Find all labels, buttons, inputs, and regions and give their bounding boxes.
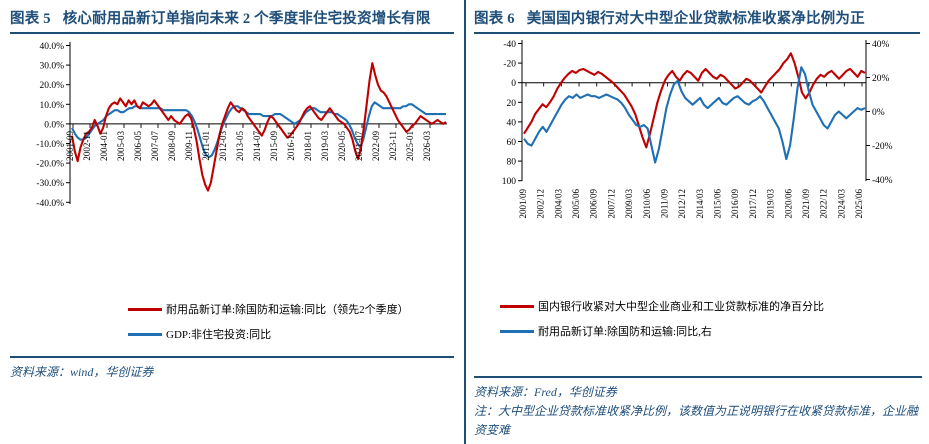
x-tick-label: 2016/09 (730, 189, 740, 219)
figure-5-footer: 资料来源：wind，华创证券 (10, 356, 454, 382)
x-tick-label: 2021-07 (354, 131, 364, 161)
legend-label-gdp-nonresidential: GDP:非住宅投资:同比 (166, 326, 271, 342)
report-figures-page: 图表 5核心耐用品新订单指向未来 2 个季度非住宅投资增长有限 40.0% 30… (0, 0, 929, 444)
legend-item-durable-goods: 耐用品新订单:除国防和运输:同比（领先2个季度） (10, 301, 454, 317)
x-tick-label: 2015/06 (713, 189, 723, 219)
figure-5-title-text: 核心耐用品新订单指向未来 2 个季度非住宅投资增长有限 (63, 11, 431, 27)
svg-text:40%: 40% (872, 40, 890, 50)
svg-text:-20: -20 (503, 60, 516, 70)
svg-text:-30.0%: -30.0% (36, 179, 64, 189)
x-tick-label: 2007-07 (150, 131, 160, 161)
figure-5-number: 图表 5 (10, 11, 51, 27)
x-tick-label: 2019-03 (320, 131, 330, 161)
x-tick-label: 2001/09 (518, 189, 528, 219)
figure-5-legend: 耐用品新订单:除国防和运输:同比（领先2个季度） GDP:非住宅投资:同比 (10, 301, 454, 342)
x-tick-label: 2022-09 (371, 131, 381, 161)
svg-text:0: 0 (511, 79, 516, 89)
svg-text:-40.0%: -40.0% (36, 199, 64, 209)
figure-6-source: 资料来源：Fred，华创证券 (474, 383, 922, 402)
x-tick-label: 2017/12 (748, 189, 758, 219)
x-tick-label: 2001-09 (65, 131, 75, 161)
x-tick-label: 2010/06 (642, 189, 652, 219)
figure-6-title-text: 美国国内银行对大中型企业贷款标准收紧净比例为正 (527, 11, 865, 27)
legend-swatch-blue (500, 330, 534, 333)
figure-5-panel: 图表 5核心耐用品新订单指向未来 2 个季度非住宅投资增长有限 40.0% 30… (0, 0, 464, 444)
x-tick-label: 2016-11 (286, 131, 296, 161)
x-tick-label: 2019/03 (766, 189, 776, 219)
x-tick-label: 2020-05 (337, 131, 347, 161)
svg-text:100: 100 (502, 177, 517, 187)
svg-text:40: 40 (507, 118, 517, 128)
figure-6-panel: 图表 6美国国内银行对大中型企业贷款标准收紧净比例为正 -40 -20 0 20… (466, 0, 929, 444)
legend-swatch-blue (128, 333, 162, 336)
x-tick-label: 2014-07 (252, 131, 262, 161)
x-tick-label: 2011/09 (659, 189, 669, 219)
x-tick-label: 2015-09 (269, 131, 279, 161)
x-tick-label: 2022/12 (819, 189, 829, 219)
x-tick-label: 2004-01 (99, 131, 109, 161)
svg-text:20.0%: 20.0% (39, 81, 64, 91)
figure-6-plot: -40 -20 0 20 40 60 80 100 (474, 34, 922, 296)
x-tick-label: 2009/03 (624, 189, 634, 219)
legend-label-durable-goods: 耐用品新订单:除国防和运输:同比（领先2个季度） (166, 301, 409, 317)
figure-6-footer: 资料来源：Fred，华创证券 注：大中型企业贷款标准收紧净比例，该数值为正说明银… (474, 376, 922, 440)
figure-6-footer-rule (474, 376, 922, 378)
x-tick-label: 2013-05 (235, 131, 245, 161)
x-tick-label: 2012-03 (218, 131, 228, 161)
figure-6-number: 图表 6 (474, 11, 515, 27)
legend-item-durable-goods-right: 耐用品新订单:除国防和运输:同比,右 (474, 323, 920, 339)
x-tick-label: 2006/09 (589, 189, 599, 219)
legend-label-loan-tightening: 国内银行收紧对大中型企业商业和工业贷款标准的净百分比 (538, 298, 824, 314)
figure-5-y-axis: 40.0% 30.0% 20.0% 10.0% 0.0% -10.0% -20.… (36, 42, 64, 209)
svg-text:-40%: -40% (872, 176, 893, 186)
x-tick-label: 2026-03 (422, 131, 432, 161)
figure-6-chart: -40 -20 0 20 40 60 80 100 (474, 34, 922, 296)
legend-swatch-red (500, 305, 534, 308)
figure-6-left-y-axis: -40 -20 0 20 40 60 80 100 (502, 40, 517, 187)
x-tick-label: 2007/12 (606, 189, 616, 219)
svg-text:60: 60 (507, 138, 517, 148)
legend-label-durable-goods-right: 耐用品新订单:除国防和运输:同比,右 (538, 323, 712, 339)
svg-text:80: 80 (507, 158, 517, 168)
figure-6-x-axis: 2001/092002/122004/032005/062006/092007/… (518, 189, 864, 219)
x-tick-label: 2025-01 (405, 131, 415, 161)
svg-text:-10.0%: -10.0% (36, 140, 64, 150)
series-line-durable-goods-orders (72, 63, 446, 190)
x-tick-label: 2021/09 (801, 189, 811, 219)
x-tick-label: 2008-09 (167, 131, 177, 161)
x-tick-label: 2009-11 (184, 131, 194, 161)
figure-6-note: 注：大中型企业贷款标准收紧净比例，该数值为正说明银行在收紧贷款标准，企业融资变难 (474, 402, 922, 440)
svg-text:-20.0%: -20.0% (36, 160, 64, 170)
figure-6-legend: 国内银行收紧对大中型企业商业和工业贷款标准的净百分比 耐用品新订单:除国防和运输… (474, 298, 920, 339)
x-tick-label: 2024/03 (836, 189, 846, 219)
series-line-loan-tightening (524, 53, 865, 147)
figure-5-source: 资料来源：wind，华创证券 (10, 363, 454, 382)
figure-5-footer-rule (10, 356, 454, 358)
x-tick-label: 2011-01 (201, 131, 211, 161)
svg-text:20%: 20% (872, 74, 890, 84)
x-tick-label: 2012/12 (677, 189, 687, 219)
svg-text:-40: -40 (503, 40, 516, 50)
legend-item-gdp-nonresidential: GDP:非住宅投资:同比 (10, 326, 454, 342)
svg-text:0%: 0% (872, 108, 885, 118)
svg-text:0.0%: 0.0% (44, 120, 64, 130)
figure-5-title: 图表 5核心耐用品新订单指向未来 2 个季度非住宅投资增长有限 (10, 8, 454, 30)
x-tick-label: 2025/06 (854, 189, 864, 219)
figure-5-chart: 40.0% 30.0% 20.0% 10.0% 0.0% -10.0% -20.… (10, 34, 454, 299)
figure-5-x-axis: 2001-092002-112004-012005-032006-052007-… (65, 131, 432, 161)
figure-6-title: 图表 6美国国内银行对大中型企业贷款标准收紧净比例为正 (474, 8, 920, 30)
figure-5-plot: 40.0% 30.0% 20.0% 10.0% 0.0% -10.0% -20.… (10, 34, 454, 299)
x-tick-label: 2014/03 (695, 189, 705, 219)
svg-text:30.0%: 30.0% (39, 62, 64, 72)
svg-text:-20%: -20% (872, 142, 893, 152)
x-tick-label: 2006-05 (133, 131, 143, 161)
x-tick-label: 2004/03 (553, 189, 563, 219)
x-tick-label: 2018-01 (303, 131, 313, 161)
x-tick-label: 2005-03 (116, 131, 126, 161)
x-tick-label: 2002/12 (536, 189, 546, 219)
x-tick-label: 2020/06 (783, 189, 793, 219)
svg-text:20: 20 (507, 99, 517, 109)
x-tick-label: 2005/06 (571, 189, 581, 219)
svg-text:40.0%: 40.0% (39, 42, 64, 52)
x-tick-label: 2002-11 (82, 131, 92, 161)
legend-swatch-red (128, 308, 162, 311)
x-tick-label: 2023-11 (388, 131, 398, 161)
legend-item-loan-tightening: 国内银行收紧对大中型企业商业和工业贷款标准的净百分比 (474, 298, 920, 314)
figure-6-right-y-axis: 40% 20% 0% -20% -40% (872, 40, 893, 186)
svg-text:10.0%: 10.0% (39, 101, 64, 111)
